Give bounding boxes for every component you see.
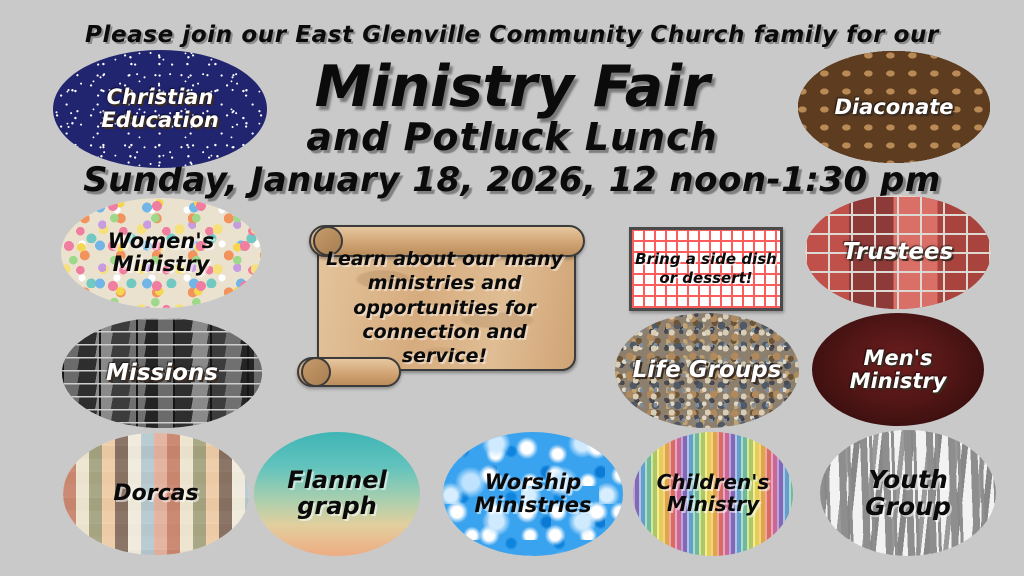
ministry-oval-label: Christian Education [53, 86, 267, 131]
ministry-oval-worship-ministries[interactable]: Worship Ministries [443, 432, 623, 556]
ministry-oval-label: Life Groups [627, 358, 788, 383]
ministry-oval-womens-ministry[interactable]: Women's Ministry [61, 198, 261, 308]
ministry-oval-label: Children's Ministry [633, 472, 793, 515]
ministry-oval-label: Trustees [837, 240, 959, 265]
ministry-oval-christian-education[interactable]: Christian Education [53, 50, 267, 168]
scroll-graphic: Learn about our many ministries and oppo… [303, 217, 586, 387]
flyer-canvas: Christian Education Diaconate Women's Mi… [0, 0, 1024, 576]
ministry-oval-trustees[interactable]: Trustees [805, 195, 991, 309]
ministry-oval-label: Women's Ministry [61, 230, 261, 275]
ministry-oval-mens-ministry[interactable]: Men's Ministry [812, 313, 984, 426]
ministry-oval-label: Dorcas [107, 482, 204, 506]
ministry-oval-flannel-graph[interactable]: Flannel graph [254, 432, 420, 556]
ministry-oval-label: Youth Group [820, 466, 996, 520]
side-dish-note-text: Bring a side dish or dessert! [632, 250, 780, 288]
ministry-oval-missions[interactable]: Missions [62, 318, 262, 428]
ministry-oval-label: Flannel graph [254, 468, 420, 520]
ministry-oval-youth-group[interactable]: Youth Group [820, 430, 996, 556]
ministry-oval-label: Diaconate [828, 96, 959, 119]
invite-line: Please join our East Glenville Community… [0, 22, 1024, 48]
ministry-oval-dorcas[interactable]: Dorcas [63, 433, 249, 555]
scroll-message: Learn about our many ministries and oppo… [321, 247, 568, 369]
side-dish-note: Bring a side dish or dessert! [629, 227, 783, 311]
ministry-oval-life-groups[interactable]: Life Groups [615, 313, 799, 428]
ministry-oval-label: Men's Ministry [812, 347, 984, 392]
ministry-oval-childrens-ministry[interactable]: Children's Ministry [633, 432, 793, 556]
ministry-oval-label: Worship Ministries [443, 471, 623, 516]
ministry-oval-label: Missions [100, 361, 224, 386]
ministry-oval-diaconate[interactable]: Diaconate [798, 51, 990, 163]
